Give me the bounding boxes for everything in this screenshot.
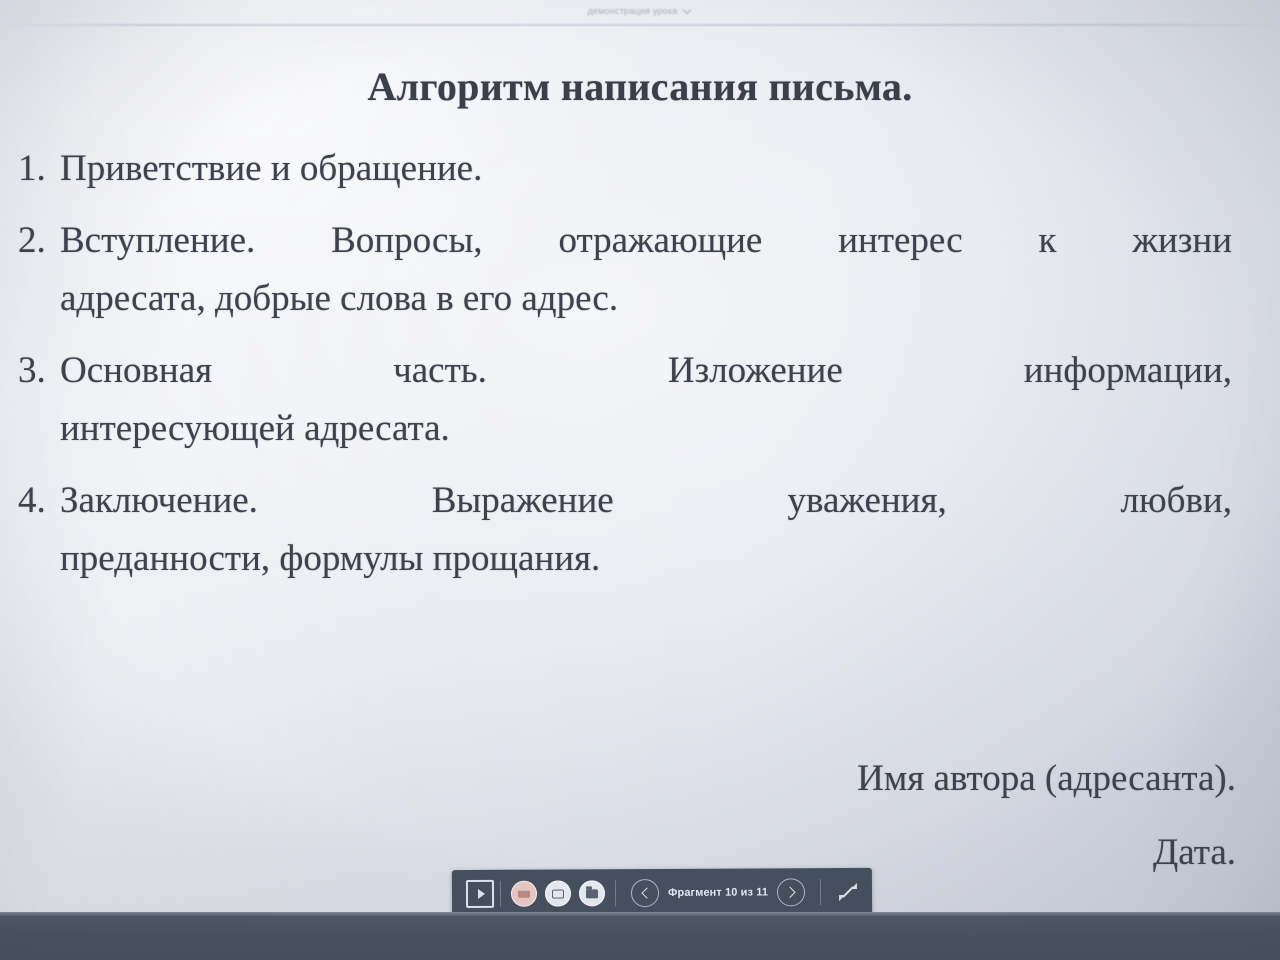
- list-item-number: 1.: [14, 140, 60, 198]
- list-item-line: Заключение. Выражение уважения, любви,: [60, 472, 1232, 530]
- exit-icon[interactable]: [466, 880, 494, 908]
- fragment-counter: Фрагмент 10 из 11: [668, 886, 768, 899]
- chevron-left-icon[interactable]: [631, 879, 659, 907]
- note-glyph: [552, 889, 564, 898]
- list-item: 4. Заключение. Выражение уважения, любви…: [14, 472, 1232, 588]
- list-item: 1. Приветствие и обращение.: [14, 140, 1232, 198]
- list-item-number: 4.: [14, 472, 60, 530]
- list-item-number: 2.: [14, 212, 60, 270]
- list-item-line: Приветствие и обращение.: [60, 140, 1232, 198]
- marker-tool-icon[interactable]: [511, 881, 537, 907]
- algorithm-list: 1. Приветствие и обращение. 2. Вступлени…: [14, 140, 1232, 602]
- monitor-bezel-highlight: [0, 912, 1280, 916]
- folder-tool-icon[interactable]: [579, 880, 605, 906]
- list-item: 3. Основная часть. Изложение информации,…: [14, 342, 1232, 458]
- toolbar-divider: [615, 880, 616, 906]
- list-item-body: Заключение. Выражение уважения, любви, п…: [60, 472, 1232, 588]
- toolbar-divider: [820, 879, 821, 905]
- list-item-line: преданности, формулы прощания.: [60, 530, 1232, 588]
- chevron-right-icon[interactable]: [777, 878, 805, 906]
- list-item: 2. Вступление. Вопросы, отражающие интер…: [14, 212, 1232, 328]
- fullscreen-icon[interactable]: [837, 881, 859, 903]
- monitor-bezel: [0, 912, 1280, 960]
- list-item-body: Приветствие и обращение.: [60, 140, 1232, 198]
- list-item-body: Вступление. Вопросы, отражающие интерес …: [60, 212, 1232, 328]
- list-item-number: 3.: [14, 342, 60, 400]
- list-item-line: Вступление. Вопросы, отражающие интерес …: [60, 212, 1232, 270]
- marker-glyph: [518, 890, 530, 897]
- screenshot-root: демонстрация урока Алгоритм написания пи…: [0, 0, 1280, 960]
- page-title: Алгоритм написания письма.: [0, 63, 1280, 110]
- player-toolbar: Фрагмент 10 из 11: [452, 868, 872, 918]
- closing-block: Имя автора (адресанта). Дата.: [0, 742, 1236, 890]
- note-tool-icon[interactable]: [545, 880, 571, 906]
- list-item-line: интересующей адресата.: [60, 400, 1232, 458]
- fullscreen-arrow-tail: [839, 895, 845, 901]
- list-item-body: Основная часть. Изложение информации, ин…: [60, 342, 1232, 458]
- slide-content: Алгоритм написания письма. 1. Приветстви…: [0, 0, 1280, 915]
- next-chevron-glyph: [784, 887, 795, 898]
- fullscreen-arrow-head: [851, 883, 857, 889]
- folder-glyph: [586, 889, 598, 898]
- list-item-line: Основная часть. Изложение информации,: [60, 342, 1232, 400]
- exit-arrow-glyph: [478, 889, 485, 899]
- list-item-line: адресата, добрые слова в его адрес.: [60, 270, 1232, 328]
- toolbar-divider: [500, 881, 501, 907]
- prev-chevron-glyph: [641, 887, 652, 898]
- author-name-line: Имя автора (адресанта).: [0, 742, 1236, 816]
